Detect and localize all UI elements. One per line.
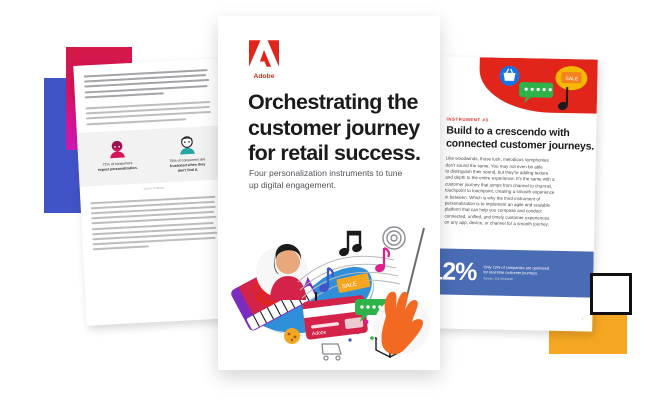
adobe-a-logo <box>249 40 279 67</box>
man-avatar-icon <box>176 133 198 155</box>
right-page-heading: Build to a crescendo with connected cust… <box>438 124 596 152</box>
left-page-quote-paragraph <box>84 69 213 99</box>
left-page-case-paragraph <box>80 186 231 251</box>
right-page-red-banner: SALE <box>479 57 598 113</box>
page-title: Orchestrating the customer journey for r… <box>248 90 428 167</box>
adobe-logo: Adobe <box>248 40 280 80</box>
stat-item: 76% of consumers are frustrated when the… <box>152 132 221 174</box>
stat-source: Source: 451 Research <box>483 277 549 282</box>
right-document-page[interactable]: SALE INSTRUMENT #3 B <box>434 56 598 331</box>
stat-label-line2: expect personalization. <box>98 165 138 171</box>
five-star-chat-bubble-icon <box>519 82 553 104</box>
right-page-content: INSTRUMENT #3 Build to a crescendo with … <box>436 116 596 229</box>
center-cover-page[interactable]: Adobe Orchestrating the customer journey… <box>218 16 440 370</box>
instrument-kicker: INSTRUMENT #3 <box>439 116 597 124</box>
left-page-text-block <box>73 58 224 125</box>
stat-label-line3: don't find it. <box>178 167 199 172</box>
document-stack-scene: 71% of consumers expect personalization.… <box>0 0 667 401</box>
left-page-stats-band: 71% of consumers expect personalization.… <box>77 125 228 187</box>
coupon-tag-icon: SALE <box>555 66 587 91</box>
square-outline-accent <box>590 273 632 315</box>
stat-item: 71% of consumers expect personalization. <box>83 136 152 173</box>
page-number: 7 <box>581 317 583 321</box>
right-page-stat-band: 12% Only 12% of companies are optimized … <box>435 248 594 297</box>
adobe-wordmark: Adobe <box>248 73 280 80</box>
conductor-hand-baton <box>374 228 430 354</box>
shopping-basket-icon <box>499 66 519 86</box>
svg-text:SALE: SALE <box>565 76 579 82</box>
right-page-body: Like woodwinds, those lush, melodious sy… <box>436 156 595 230</box>
shopping-cart-icon <box>322 344 341 360</box>
signal-icon <box>383 227 405 249</box>
left-document-page[interactable]: 71% of consumers expect personalization.… <box>73 58 234 325</box>
cookie-icon <box>284 328 300 344</box>
stat-number: 12% <box>434 257 477 287</box>
woman-avatar-icon <box>106 137 128 159</box>
orchestra-retail-illustration: Adobe SALE <box>226 204 432 364</box>
music-note-icon <box>557 87 569 112</box>
page-subtitle: Four personalization instruments to tune… <box>249 168 414 191</box>
